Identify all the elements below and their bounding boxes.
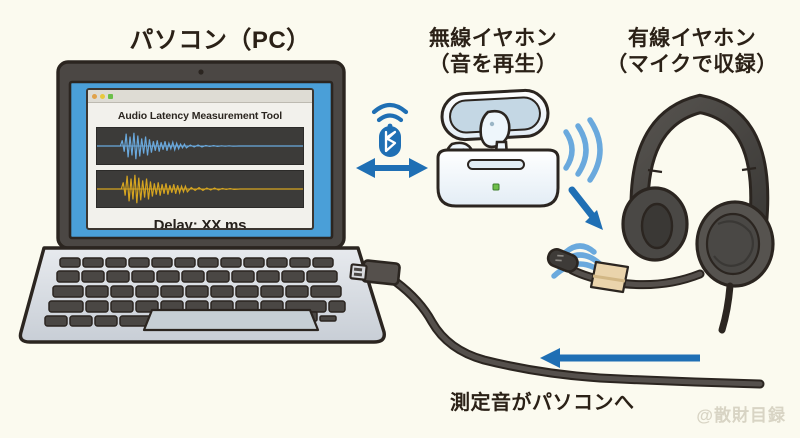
close-button-dot[interactable]: [92, 94, 97, 99]
maximize-button-dot[interactable]: [108, 94, 113, 99]
return-arrow-icon: [540, 348, 700, 368]
acoustic-path-arrow-icon: [572, 190, 603, 230]
bluetooth-icon: [374, 105, 406, 157]
webcam-icon: [198, 69, 203, 74]
illustration-canvas: パソコン（PC） 無線イヤホン （音を再生） 有線イヤホン （マイクで収録） 測…: [0, 0, 800, 438]
laptop-base: [20, 248, 384, 342]
delay-readout: Delay: XX ms: [88, 217, 312, 230]
playback-waveform: [96, 127, 304, 165]
bidirectional-arrow-icon: [356, 158, 428, 178]
microphone-icon: [546, 247, 580, 274]
status-led-green: [493, 184, 499, 190]
app-titlebar: [88, 90, 312, 103]
audio-latency-app-window[interactable]: Audio Latency Measurement Tool Delay: XX…: [86, 88, 314, 230]
wired-headset: [546, 104, 773, 330]
recorded-waveform: [96, 170, 304, 208]
earbud-sound-waves-icon: [566, 120, 600, 180]
minimize-button-dot[interactable]: [100, 94, 105, 99]
bluetooth-link: [356, 105, 428, 178]
laptop-trackpad: [144, 310, 318, 330]
tape-marker: [591, 262, 628, 292]
wireless-earbuds-case: [438, 89, 558, 206]
app-title: Audio Latency Measurement Tool: [88, 110, 312, 122]
